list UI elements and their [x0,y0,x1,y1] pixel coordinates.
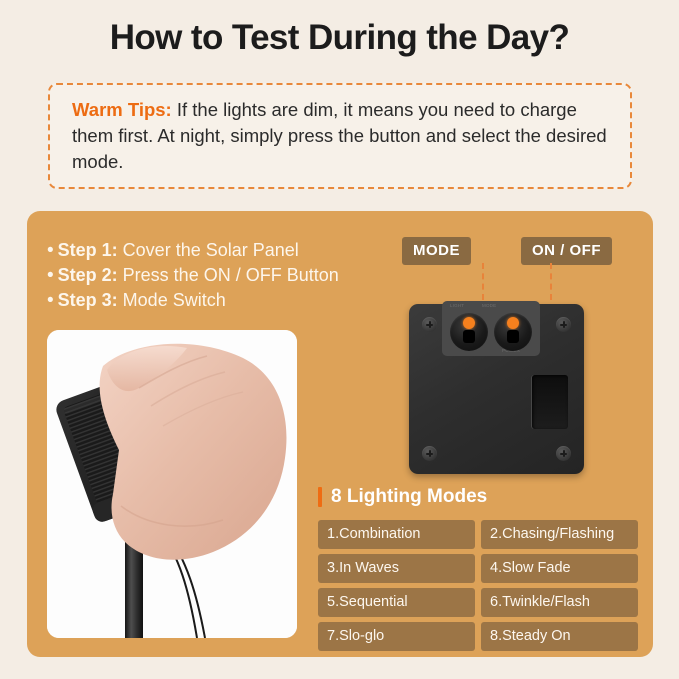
callout-onoff-label: ON / OFF [521,237,612,265]
screw-icon [422,446,437,461]
lighting-modes-header: 8 Lighting Modes [318,486,487,508]
mode-button-indicator [463,317,475,329]
mode-item: 3.In Waves [318,554,475,583]
lighting-modes-grid: 1.Combination 2.Chasing/Flashing 3.In Wa… [318,520,638,651]
mode-item: 2.Chasing/Flashing [481,520,638,549]
callout-mode-label: MODE [402,237,471,265]
bullet-icon: • [47,289,54,313]
step-2-value: Press the ON / OFF Button [123,263,339,287]
mode-button[interactable] [450,313,488,351]
mode-item: 5.Sequential [318,588,475,617]
step-item-3: • Step 3: Mode Switch [47,288,377,313]
on-off-button[interactable] [494,313,532,351]
button-panel: LIGHT MODE POWER [442,301,540,356]
product-photo [47,330,297,638]
on-off-button-cap [507,330,519,343]
infographic-page: How to Test During the Day? Warm Tips: I… [0,0,679,679]
mode-item: 4.Slow Fade [481,554,638,583]
page-title: How to Test During the Day? [0,18,679,58]
device-label-light: LIGHT [450,303,464,308]
step-3-value: Mode Switch [123,288,226,312]
steps-list: • Step 1: Cover the Solar Panel • Step 2… [47,238,377,313]
mode-item: 7.Slo-glo [318,622,475,651]
warm-tips-box: Warm Tips: If the lights are dim, it mea… [48,83,632,189]
step-3-key: Step 3: [58,288,118,312]
screw-icon [556,317,571,332]
mode-item: 1.Combination [318,520,475,549]
step-item-1: • Step 1: Cover the Solar Panel [47,238,377,263]
bullet-icon: • [47,239,54,263]
mode-button-cap [463,330,475,343]
device-label-mode: MODE [482,303,496,308]
step-1-key: Step 1: [58,238,118,262]
step-2-key: Step 2: [58,263,118,287]
bullet-icon: • [47,264,54,288]
screw-icon [422,317,437,332]
step-item-2: • Step 2: Press the ON / OFF Button [47,263,377,288]
instruction-card: • Step 1: Cover the Solar Panel • Step 2… [27,211,653,657]
cable-slot [532,375,568,429]
hand-covering-solar-panel-illustration [47,330,297,638]
photo-canvas [47,330,297,638]
step-1-value: Cover the Solar Panel [123,238,299,262]
controller-device: LIGHT MODE POWER [409,304,584,474]
accent-bar-icon [318,487,322,507]
on-off-button-indicator [507,317,519,329]
mode-item: 6.Twinkle/Flash [481,588,638,617]
mode-item: 8.Steady On [481,622,638,651]
warm-tips-label: Warm Tips: [72,99,172,120]
warm-tips-text: Warm Tips: If the lights are dim, it mea… [72,97,614,175]
screw-icon [556,446,571,461]
lighting-modes-title: 8 Lighting Modes [331,486,487,508]
